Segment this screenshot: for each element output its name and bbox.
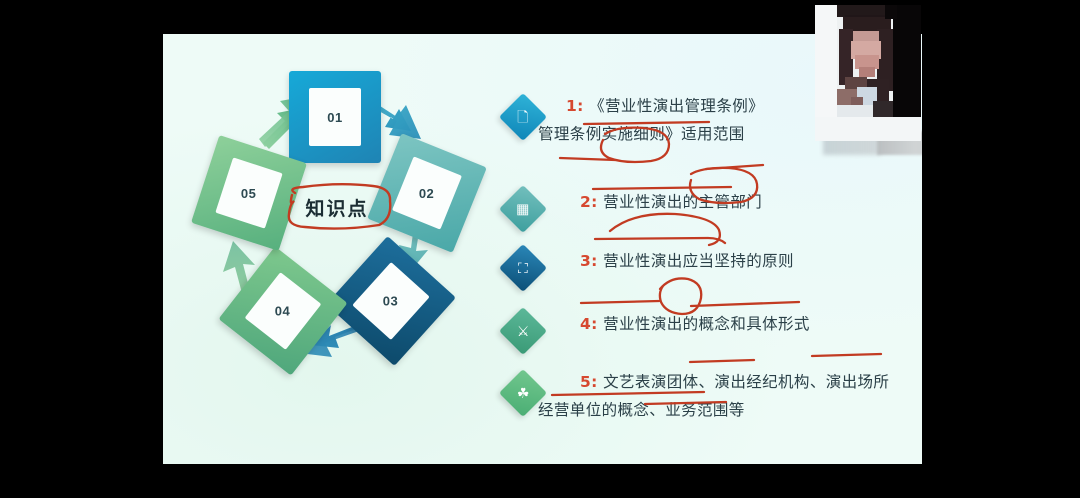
cycle-node-04-label: 04 bbox=[275, 304, 290, 319]
list-item-number: 2: bbox=[580, 193, 598, 211]
list-item-line2: 经营单位的概念、业务范围等 bbox=[538, 398, 889, 420]
list-item-line1: 文艺表演团体、演出经纪机构、演出场所 bbox=[603, 373, 889, 391]
cycle-node-02-label: 02 bbox=[419, 186, 434, 201]
list-item-number: 4: bbox=[580, 315, 598, 333]
cycle-node-01: 01 bbox=[289, 71, 381, 163]
flask-icon: ⚔ bbox=[499, 307, 547, 355]
list-item-line1: 营业性演出的概念和具体形式 bbox=[603, 315, 810, 333]
cycle-node-01-label: 01 bbox=[327, 110, 342, 125]
list-item-line1: 《营业性演出管理条例》 bbox=[589, 97, 764, 115]
list-item-text: 5: 文艺表演团体、演出经纪机构、演出场所 经营单位的概念、业务范围等 bbox=[580, 370, 889, 420]
list-item-number: 5: bbox=[580, 373, 598, 391]
cycle-node-03-label: 03 bbox=[383, 294, 398, 309]
list-item-text: 3: 营业性演出应当坚持的原则 bbox=[580, 249, 794, 271]
cycle-center-label: 知识点 bbox=[288, 187, 386, 227]
list-item-text: 4: 营业性演出的概念和具体形式 bbox=[580, 312, 810, 334]
presenter-video-overlay[interactable] bbox=[815, 5, 921, 141]
list-item-line2: 管理条例实施细则》适用范围 bbox=[538, 122, 764, 144]
document-glyph: 🗋 bbox=[517, 110, 528, 124]
presentation-slide: 01 02 03 04 05 知识点 🗋 bbox=[163, 34, 922, 464]
puzzle-glyph: ☘ bbox=[517, 386, 530, 400]
cycle-node-05-label: 05 bbox=[241, 186, 256, 201]
picture-glyph: ⛶ bbox=[518, 261, 528, 275]
list-item-line1: 营业性演出应当坚持的原则 bbox=[603, 252, 794, 270]
list-item-number: 1: bbox=[566, 97, 584, 115]
org-chart-glyph: ▦ bbox=[516, 202, 529, 216]
list-item-line1: 营业性演出的主管部门 bbox=[603, 193, 762, 211]
list-item-number: 3: bbox=[580, 252, 598, 270]
list-item-text: 1: 《营业性演出管理条例》 管理条例实施细则》适用范围 bbox=[566, 94, 764, 144]
screen-recording-canvas: 01 02 03 04 05 知识点 🗋 bbox=[0, 0, 1080, 498]
cycle-diagram: 01 02 03 04 05 知识点 bbox=[185, 69, 485, 374]
org-chart-icon: ▦ bbox=[499, 185, 547, 233]
list-item-text: 2: 营业性演出的主管部门 bbox=[580, 190, 762, 212]
flask-glyph: ⚔ bbox=[517, 324, 530, 338]
picture-icon: ⛶ bbox=[499, 244, 547, 292]
